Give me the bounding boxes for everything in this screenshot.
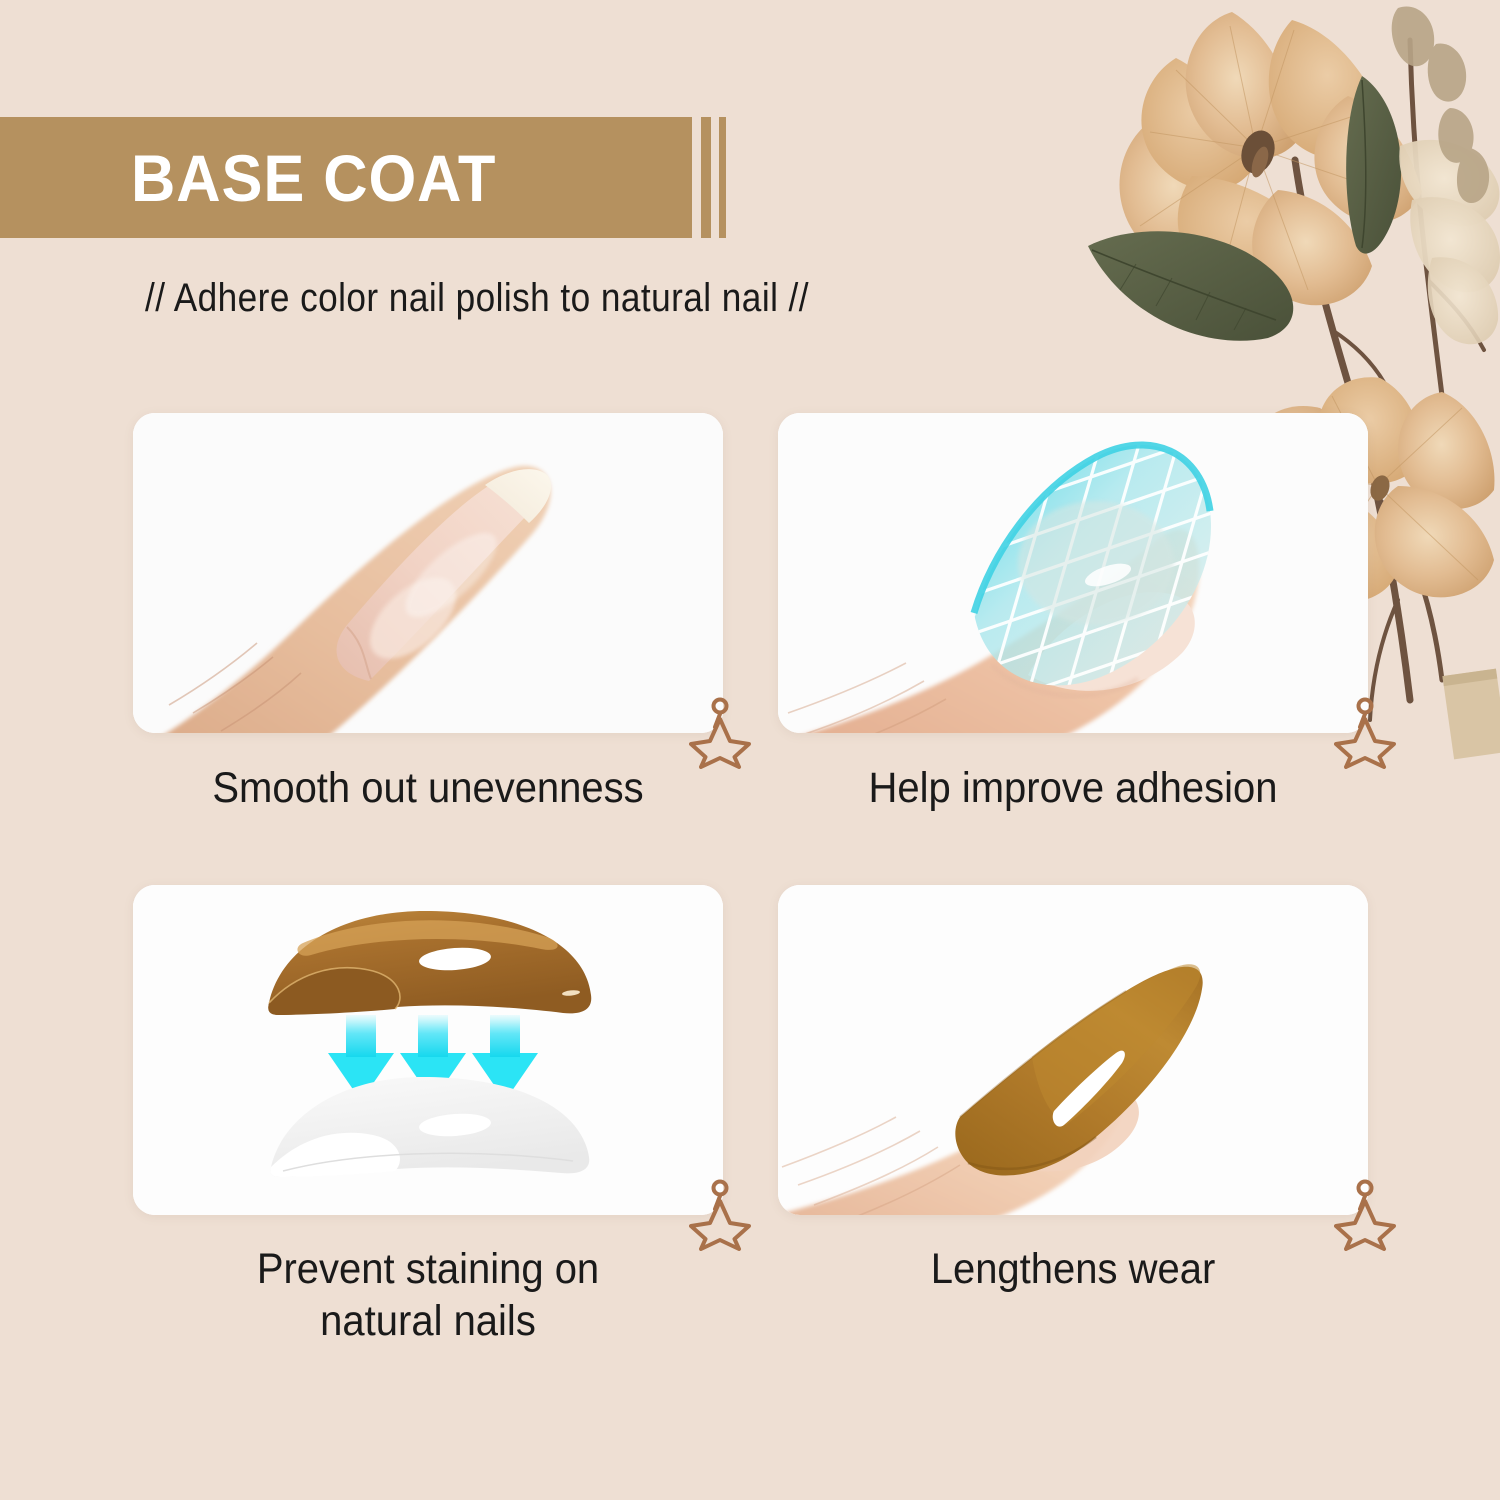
card-prevent-staining[interactable] bbox=[133, 885, 723, 1215]
star-charm-icon bbox=[689, 697, 751, 769]
caption-smooth: Smooth out unevenness bbox=[154, 762, 703, 814]
header-accent-bar-1 bbox=[701, 117, 711, 238]
card-image-bare-nail bbox=[133, 413, 723, 733]
star-charm-icon bbox=[1334, 1179, 1396, 1251]
caption-lengthens-wear: Lengthens wear bbox=[799, 1243, 1348, 1295]
caption-line-2: natural nails bbox=[154, 1295, 703, 1347]
caption-line-1: Prevent staining on bbox=[154, 1243, 703, 1295]
card-smooth[interactable] bbox=[133, 413, 723, 733]
caption-adhesion: Help improve adhesion bbox=[799, 762, 1348, 814]
card-adhesion[interactable] bbox=[778, 413, 1368, 733]
star-charm-icon bbox=[1334, 697, 1396, 769]
star-charm-icon bbox=[689, 1179, 751, 1251]
card-image-grid-nail bbox=[778, 413, 1368, 733]
page-title: BASE COAT bbox=[131, 145, 496, 211]
caption-prevent-staining: Prevent staining on natural nails bbox=[154, 1243, 703, 1348]
card-image-caramel-nail bbox=[778, 885, 1368, 1215]
header-band: BASE COAT bbox=[0, 117, 692, 238]
header-accent-bar-2 bbox=[719, 117, 726, 238]
card-lengthens-wear[interactable] bbox=[778, 885, 1368, 1215]
subtitle: // Adhere color nail polish to natural n… bbox=[145, 276, 809, 321]
card-image-layer-diagram bbox=[133, 885, 723, 1215]
